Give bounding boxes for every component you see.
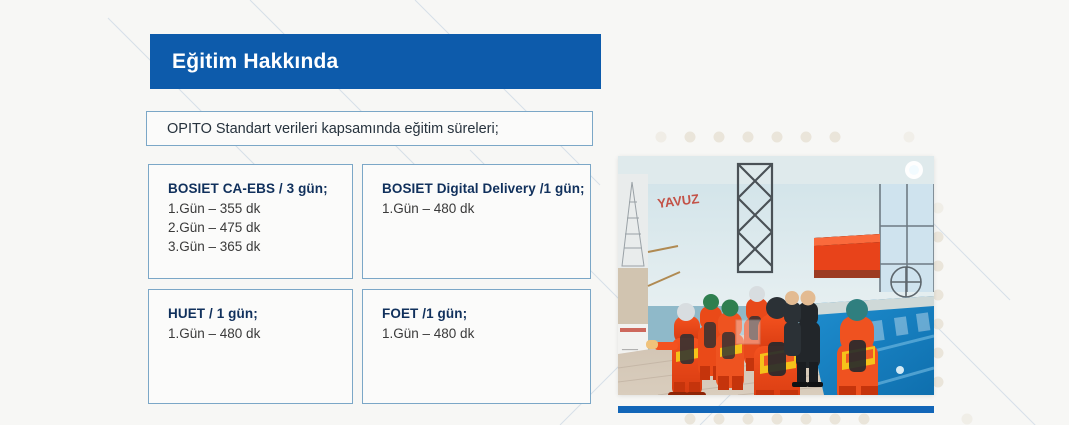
svg-text:____: ____ [621, 341, 639, 350]
course-card-line: 1.Gün – 480 dk [382, 199, 590, 218]
course-card-title: HUET / 1 gün; [168, 306, 352, 321]
course-card-line: 1.Gün – 480 dk [382, 324, 590, 343]
course-card-foet: FOET /1 gün; 1.Gün – 480 dk [362, 289, 591, 404]
course-card-line: 3.Gün – 365 dk [168, 237, 352, 256]
course-card-bosiet-digital-delivery: BOSIET Digital Delivery /1 gün; 1.Gün – … [362, 164, 591, 279]
slide-content: Eğitim Hakkında OPITO Standart verileri … [0, 0, 1069, 425]
photo-underline-accent [618, 406, 934, 413]
course-card-line: 2.Gün – 475 dk [168, 218, 352, 237]
course-card-line: 1.Gün – 355 dk [168, 199, 352, 218]
course-card-title: FOET /1 gün; [382, 306, 590, 321]
subtitle-text: OPITO Standart verileri kapsamında eğiti… [147, 121, 499, 137]
course-card-line: 1.Gün – 480 dk [168, 324, 352, 343]
section-header: Eğitim Hakkında [150, 34, 601, 89]
training-photo: ____ YAVUZ [618, 156, 934, 395]
subtitle-box: OPITO Standart verileri kapsamında eğiti… [146, 111, 593, 146]
course-card-title: BOSIET Digital Delivery /1 gün; [382, 181, 590, 196]
course-card-title: BOSIET CA-EBS / 3 gün; [168, 181, 352, 196]
course-card-huet: HUET / 1 gün; 1.Gün – 480 dk [148, 289, 353, 404]
page-title: Eğitim Hakkında [150, 50, 338, 74]
course-card-bosiet-ca-ebs: BOSIET CA-EBS / 3 gün; 1.Gün – 355 dk 2.… [148, 164, 353, 279]
